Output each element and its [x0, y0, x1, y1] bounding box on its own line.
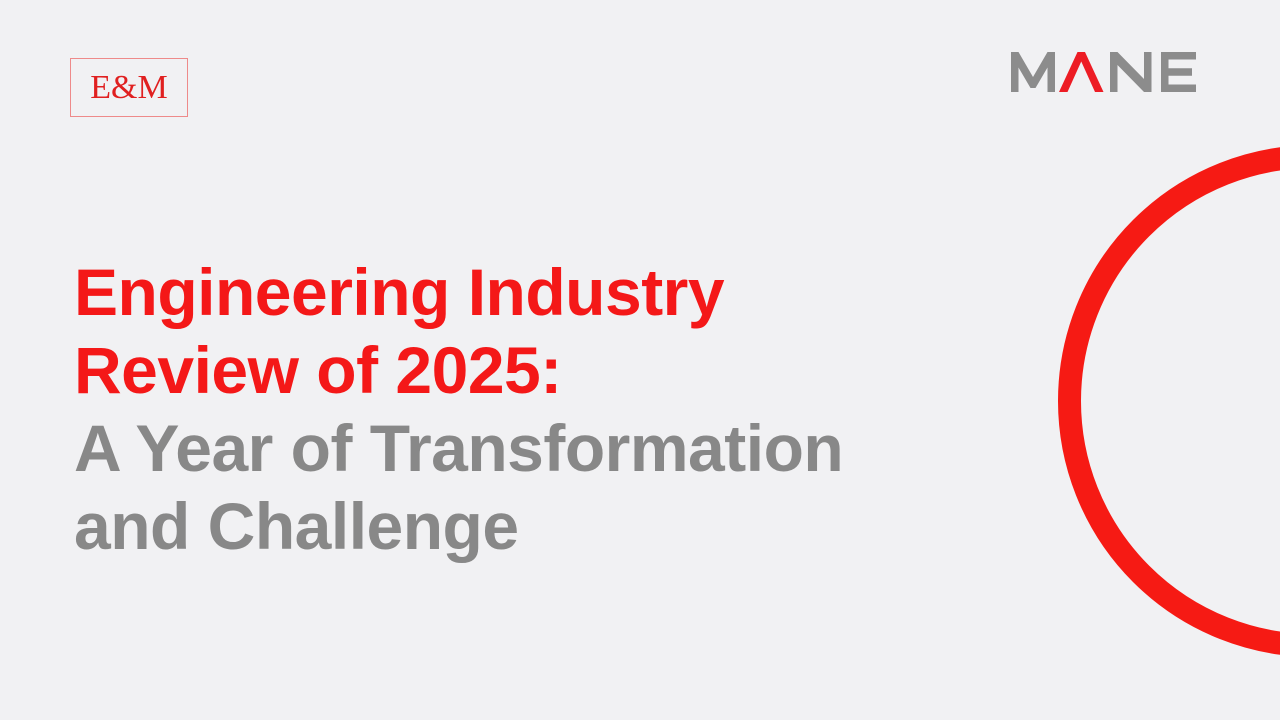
em-logo-text: E&M [90, 71, 167, 105]
title-line-2: Review of 2025: [74, 331, 1074, 409]
mane-logo-icon [1011, 52, 1209, 92]
em-logo: E&M [70, 58, 188, 117]
subtitle-line-1: A Year of Transformation [74, 409, 1074, 487]
red-ring-decoration [1058, 145, 1280, 657]
title-slide: E&M Engineering Industry Review of 2025:… [0, 0, 1280, 720]
mane-logo [1011, 52, 1209, 92]
red-ring-icon [1058, 145, 1280, 657]
title-line-1: Engineering Industry [74, 253, 1074, 331]
subtitle-line-2: and Challenge [74, 487, 1074, 565]
slide-title-block: Engineering Industry Review of 2025: A Y… [74, 253, 1074, 565]
